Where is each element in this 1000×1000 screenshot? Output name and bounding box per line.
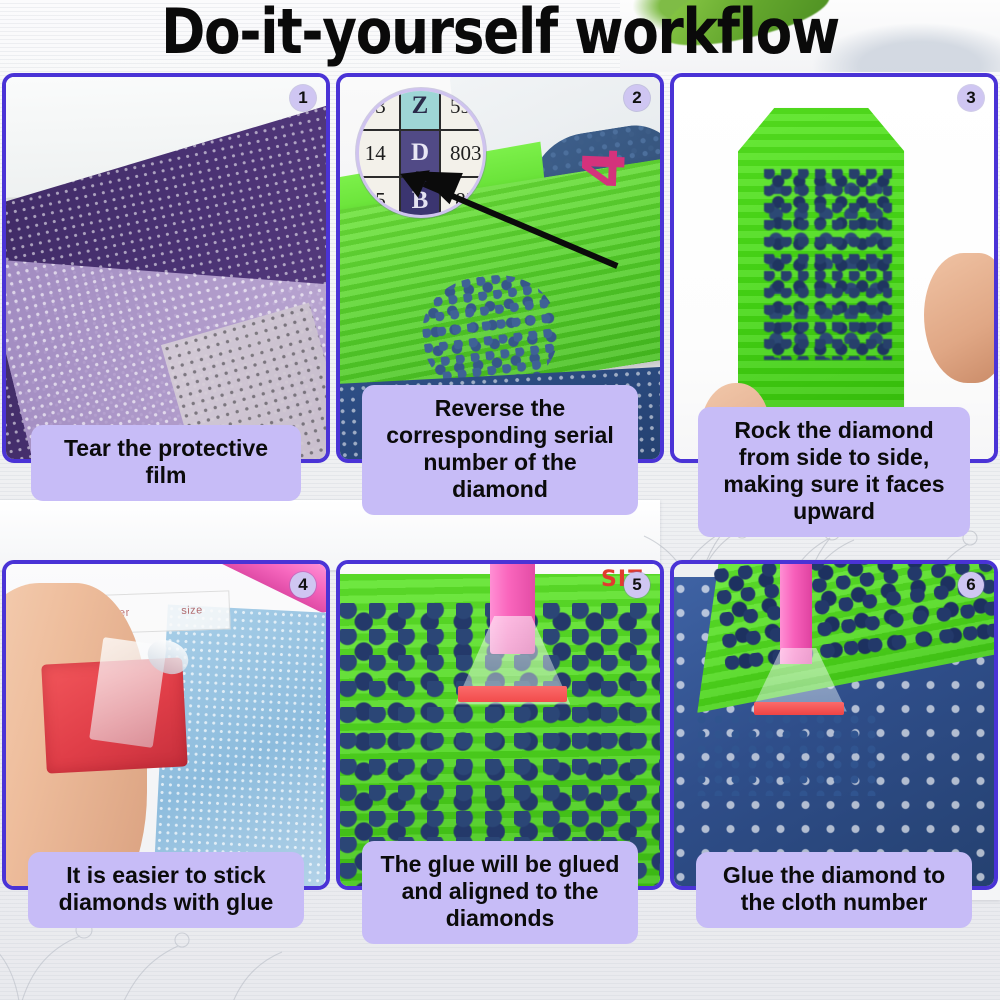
step-badge-4: 4 (290, 572, 316, 598)
page-title: Do-it-yourself workflow (70, 0, 930, 68)
step-badge-1: 1 (290, 85, 316, 111)
step-5-photo: SIZ (340, 564, 660, 886)
step-caption-3: Rock the diamond from side to side, maki… (698, 407, 970, 538)
row-index: 14 (356, 131, 401, 176)
poster-page: Do-it-yourself workflow 1 Tear the prote… (0, 0, 1000, 1000)
step-1-photo (6, 77, 326, 459)
placed-diamonds (693, 712, 879, 796)
step-6-photo (674, 564, 994, 886)
row-serial: 598 (441, 88, 486, 128)
diamonds-on-tray (764, 169, 892, 360)
step-caption-2: Reverse the corresponding serial number … (362, 385, 638, 516)
step-panel-6: 6 Glue the diamond to the cloth number (670, 560, 998, 890)
step-panel-2: 4 13 Z 598 14 D 803 (336, 73, 664, 463)
step-4-photo: mber size (6, 564, 326, 886)
row-index: 13 (356, 88, 401, 128)
red-glue-in-tip (458, 686, 567, 702)
title-bar: Do-it-yourself workflow (0, 0, 1000, 72)
step-badge-3: 3 (958, 85, 984, 111)
table-row: 13 Z 598 (356, 88, 486, 130)
step-caption-4: It is easier to stick diamonds with glue (28, 852, 304, 928)
step-badge-5: 5 (624, 572, 650, 598)
step-panel-1: 1 Tear the protective film (2, 73, 330, 463)
step-caption-1: Tear the protective film (31, 425, 301, 501)
step-3-photo (674, 77, 994, 459)
red-glue-in-tip (754, 702, 844, 715)
step-panel-3: 3 Rock the diamond from side to side, ma… (670, 73, 998, 463)
step-caption-5: The glue will be glued and aligned to th… (362, 841, 638, 944)
label-size-text: size (181, 605, 203, 618)
step-badge-2: 2 (624, 85, 650, 111)
step-panel-4: mber size 4 It is easier to stick diamon… (2, 560, 330, 890)
step-caption-6: Glue the diamond to the cloth number (696, 852, 972, 928)
row-code: Z (401, 88, 440, 128)
bag-marking-number: 4 (570, 147, 639, 190)
step-badge-6: 6 (958, 572, 984, 598)
step-panel-5: SIZ 5 The glue will be glued and aligned… (336, 560, 664, 890)
